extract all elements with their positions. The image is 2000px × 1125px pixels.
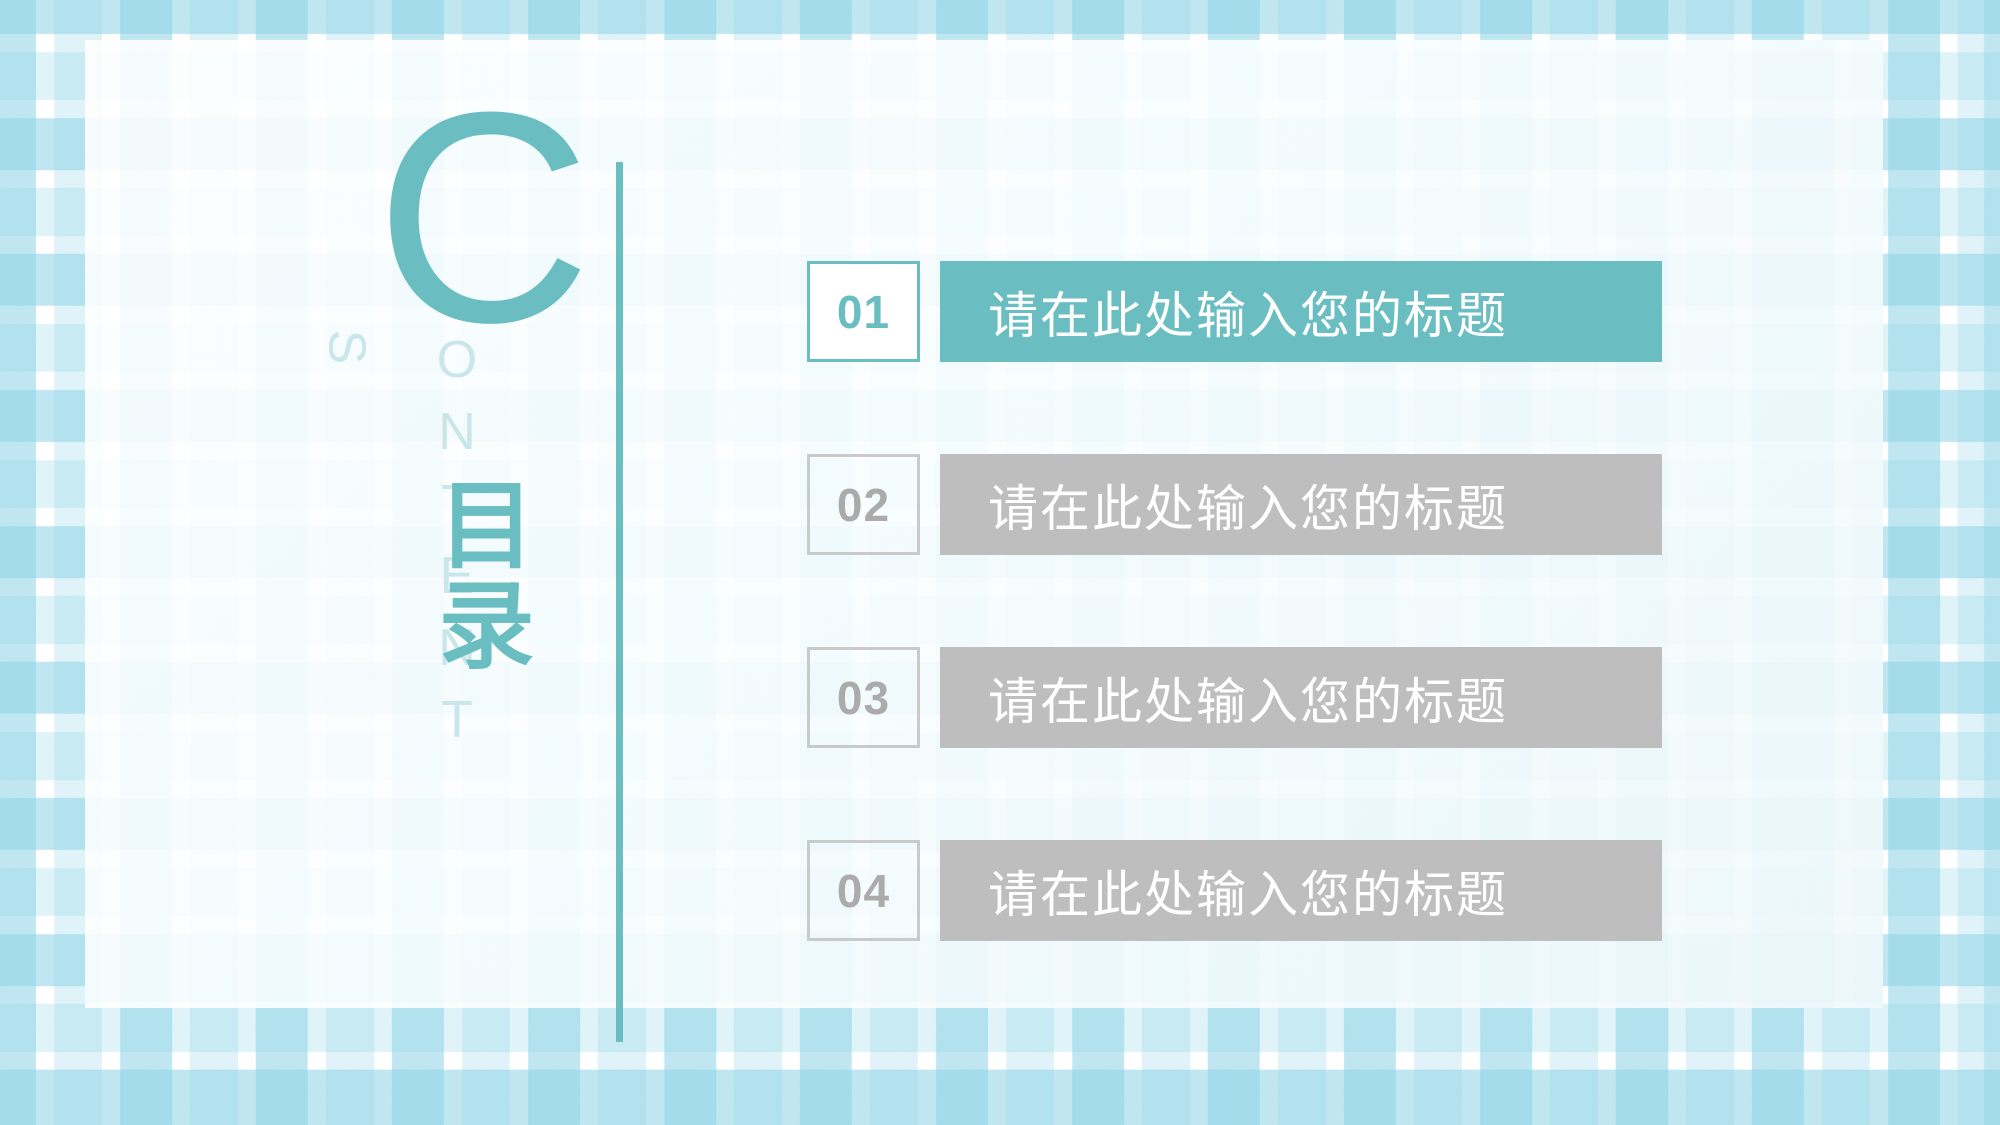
toc-item-number: 04 <box>807 840 920 941</box>
toc-item-title: 请在此处输入您的标题 <box>988 855 1508 927</box>
toc-item-title: 请在此处输入您的标题 <box>988 276 1508 348</box>
toc-item-bar[interactable]: 请在此处输入您的标题 <box>940 647 1662 748</box>
toc-item-02[interactable]: 02 请在此处输入您的标题 <box>807 454 1662 555</box>
toc-item-01[interactable]: 01 请在此处输入您的标题 <box>807 261 1662 362</box>
toc-item-number: 03 <box>807 647 920 748</box>
toc-item-title: 请在此处输入您的标题 <box>988 662 1508 734</box>
toc-item-04[interactable]: 04 请在此处输入您的标题 <box>807 840 1662 941</box>
toc-item-list: 01 请在此处输入您的标题 02 请在此处输入您的标题 03 请在此处输入您的标… <box>807 261 1662 941</box>
toc-heading-block: C S ONTENT 目录 <box>315 135 575 835</box>
vertical-divider <box>616 162 623 1042</box>
toc-item-number: 01 <box>807 261 920 362</box>
contents-letter-s: S <box>316 330 376 365</box>
toc-item-title: 请在此处输入您的标题 <box>988 469 1508 541</box>
toc-item-03[interactable]: 03 请在此处输入您的标题 <box>807 647 1662 748</box>
toc-item-number: 02 <box>807 454 920 555</box>
slide-root: C S ONTENT 目录 01 请在此处输入您的标题 02 请在此处输入您的标… <box>0 0 2000 1125</box>
page-title-chinese: 目录 <box>420 475 534 675</box>
toc-item-bar[interactable]: 请在此处输入您的标题 <box>940 261 1662 362</box>
contents-initial-letter: C <box>375 67 592 367</box>
toc-item-bar[interactable]: 请在此处输入您的标题 <box>940 454 1662 555</box>
toc-item-bar[interactable]: 请在此处输入您的标题 <box>940 840 1662 941</box>
content-panel: C S ONTENT 目录 01 请在此处输入您的标题 02 请在此处输入您的标… <box>85 40 1883 1008</box>
